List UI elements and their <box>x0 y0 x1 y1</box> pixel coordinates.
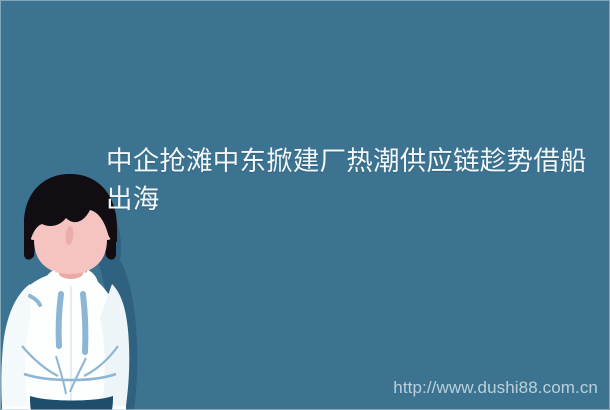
drawstring-right <box>83 294 85 352</box>
page-title: 中企抢滩中东掀建厂热潮供应链趁势借船出海 <box>106 142 600 218</box>
pants-lower <box>34 402 110 410</box>
hoodie-sleeve-left <box>1 284 30 406</box>
drawstring-left <box>59 294 61 346</box>
image-canvas: 中企抢滩中东掀建厂热潮供应链趁势借船出海 http://www.dushi88.… <box>0 0 610 410</box>
watermark-url: http://www.dushi88.com.cn <box>393 378 598 398</box>
